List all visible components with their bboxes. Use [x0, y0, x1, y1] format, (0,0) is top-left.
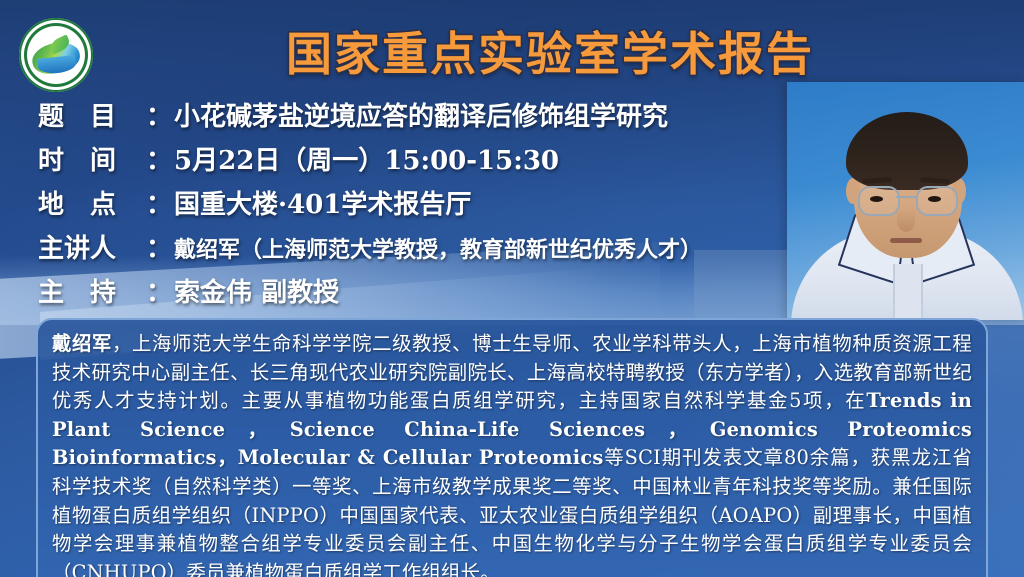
info-row-host: 主 持 ： 索金伟 副教授 — [38, 272, 818, 316]
info-row-topic: 题 目 ： 小花碱茅盐逆境应答的翻译后修饰组学研究 — [38, 96, 818, 140]
portrait-shirt-placket — [893, 264, 923, 320]
info-value-topic: 小花碱茅盐逆境应答的翻译后修饰组学研究 — [174, 96, 668, 133]
info-colon-time: ： — [146, 140, 172, 177]
info-row-location: 地 点 ： 国重大楼·401学术报告厅 — [38, 184, 818, 228]
info-label-speaker: 主讲人 — [38, 228, 146, 265]
info-value-time: 5月22日（周一）15:00-15:30 — [174, 140, 559, 177]
info-label-location: 地 点 — [38, 184, 146, 221]
portrait-glasses-bridge — [896, 196, 916, 198]
speaker-biography: 戴绍军，上海师范大学生命科学学院二级教授、博士生导师、农业学科带头人，上海市植物… — [36, 318, 988, 577]
info-colon-location: ： — [146, 184, 172, 221]
portrait-mouth — [890, 238, 922, 243]
info-label-host: 主 持 — [38, 272, 146, 309]
seminar-info-block: 题 目 ： 小花碱茅盐逆境应答的翻译后修饰组学研究 时 间 ： 5月22日（周一… — [38, 96, 818, 316]
speaker-portrait — [787, 82, 1024, 320]
bio-text-part-one: ，上海师范大学生命科学学院二级教授、博士生导师、农业学科带头人，上海市植物种质资… — [52, 332, 972, 412]
info-colon-topic: ： — [146, 96, 172, 133]
info-value-host: 索金伟 副教授 — [174, 272, 339, 309]
portrait-eye-right — [928, 196, 941, 202]
poster-headline: 国家重点实验室学术报告 — [0, 18, 1024, 84]
info-row-speaker: 主讲人 ： 戴绍军（上海师范大学教授，教育部新世纪优秀人才） — [38, 228, 818, 272]
info-colon-speaker: ： — [146, 228, 172, 265]
portrait-eye-left — [870, 196, 883, 202]
info-value-speaker: 戴绍军（上海师范大学教授，教育部新世纪优秀人才） — [174, 232, 702, 264]
info-row-time: 时 间 ： 5月22日（周一）15:00-15:30 — [38, 140, 818, 184]
info-label-topic: 题 目 — [38, 96, 146, 133]
info-value-location: 国重大楼·401学术报告厅 — [174, 184, 471, 221]
info-label-time: 时 间 — [38, 140, 146, 177]
portrait-nose — [897, 210, 915, 232]
bio-speaker-name: 戴绍军 — [52, 332, 112, 355]
seminar-poster: 国家重点实验室学术报告 题 目 ： 小花碱茅盐逆境应答的翻译后修饰组学研究 时 … — [0, 0, 1024, 577]
info-colon-host: ： — [146, 272, 172, 309]
